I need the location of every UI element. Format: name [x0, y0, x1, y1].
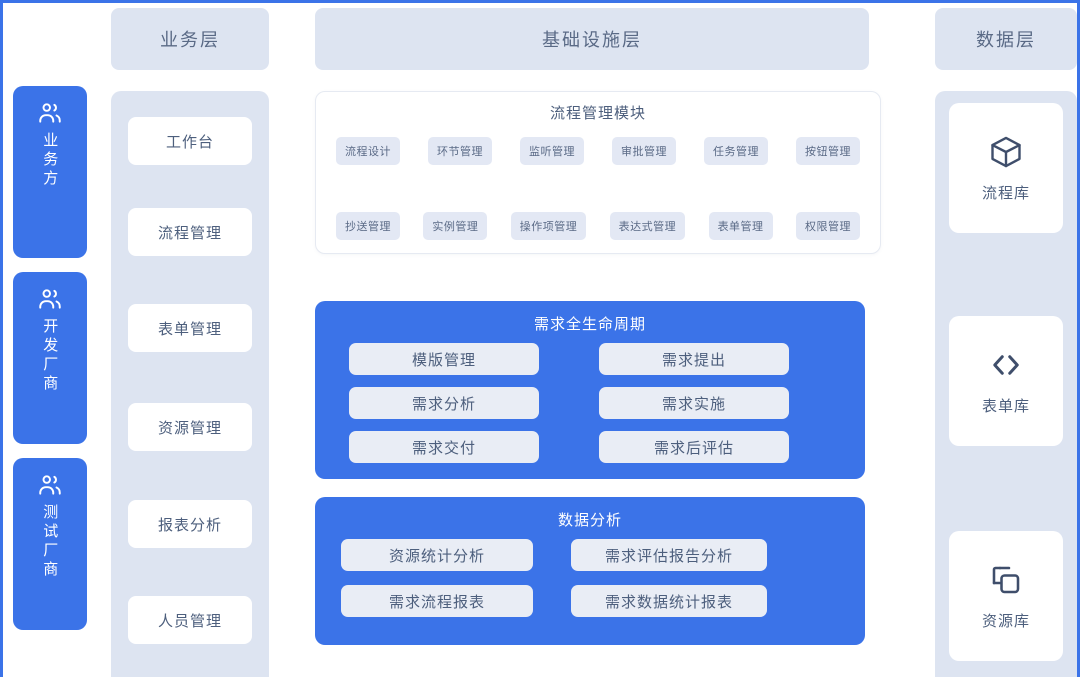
- business-item-report-analysis[interactable]: 报表分析: [128, 500, 252, 548]
- business-item-resource-mgmt[interactable]: 资源管理: [128, 403, 252, 451]
- analysis-item-grid: 资源统计分析 需求评估报告分析 需求流程报表 需求数据统计报表: [315, 539, 865, 617]
- tag-button-mgmt[interactable]: 按钮管理: [796, 137, 860, 165]
- tag-form-mgmt[interactable]: 表单管理: [709, 212, 773, 240]
- analysis-item-process-report[interactable]: 需求流程报表: [341, 585, 533, 617]
- analysis-item-evaluation-report[interactable]: 需求评估报告分析: [571, 539, 767, 571]
- data-card-resource-library[interactable]: 资源库: [949, 531, 1063, 661]
- tag-process-design[interactable]: 流程设计: [336, 137, 400, 165]
- tag-expression-mgmt[interactable]: 表达式管理: [610, 212, 686, 240]
- lifecycle-item-requirement-analysis[interactable]: 需求分析: [349, 387, 539, 419]
- data-card-label: 表单库: [982, 395, 1030, 416]
- data-card-label: 流程库: [982, 182, 1030, 203]
- cube-icon: [988, 134, 1024, 170]
- role-card-business-party[interactable]: 业务方: [13, 86, 87, 258]
- lifecycle-item-grid: 模版管理 需求提出 需求分析 需求实施 需求交付 需求后评估: [315, 343, 865, 463]
- tag-listener-mgmt[interactable]: 监听管理: [520, 137, 584, 165]
- column-header-infrastructure-layer: 基础设施层: [315, 8, 869, 70]
- lifecycle-item-template-mgmt[interactable]: 模版管理: [349, 343, 539, 375]
- lifecycle-item-requirement-implement[interactable]: 需求实施: [599, 387, 789, 419]
- users-icon: [35, 286, 65, 312]
- analysis-item-resource-stats[interactable]: 资源统计分析: [341, 539, 533, 571]
- copy-squares-icon: [988, 562, 1024, 598]
- data-analysis-panel: 数据分析 资源统计分析 需求评估报告分析 需求流程报表 需求数据统计报表: [315, 497, 865, 645]
- users-icon: [35, 100, 65, 126]
- data-card-form-library[interactable]: 表单库: [949, 316, 1063, 446]
- process-module-title: 流程管理模块: [316, 102, 880, 123]
- analysis-item-data-stats-report[interactable]: 需求数据统计报表: [571, 585, 767, 617]
- business-item-personnel-mgmt[interactable]: 人员管理: [128, 596, 252, 644]
- tag-instance-mgmt[interactable]: 实例管理: [423, 212, 487, 240]
- data-card-process-library[interactable]: 流程库: [949, 103, 1063, 233]
- architecture-diagram: 业务方 开发厂商 测试厂商 业务层 基础设施层 数据层 工作台 流: [0, 0, 1080, 677]
- tag-permission-mgmt[interactable]: 权限管理: [796, 212, 860, 240]
- users-icon: [35, 472, 65, 498]
- tag-approval-mgmt[interactable]: 审批管理: [612, 137, 676, 165]
- data-card-label: 资源库: [982, 610, 1030, 631]
- tag-task-mgmt[interactable]: 任务管理: [704, 137, 768, 165]
- requirement-lifecycle-panel: 需求全生命周期 模版管理 需求提出 需求分析 需求实施 需求交付 需求后评估: [315, 301, 865, 479]
- tag-node-mgmt[interactable]: 环节管理: [428, 137, 492, 165]
- role-sidebar: 业务方 开发厂商 测试厂商: [13, 86, 87, 644]
- role-label: 测试厂商: [42, 504, 59, 580]
- role-label: 开发厂商: [42, 318, 59, 394]
- business-item-workbench[interactable]: 工作台: [128, 117, 252, 165]
- lifecycle-item-requirement-raise[interactable]: 需求提出: [599, 343, 789, 375]
- role-card-dev-vendor[interactable]: 开发厂商: [13, 272, 87, 444]
- lifecycle-item-post-evaluation[interactable]: 需求后评估: [599, 431, 789, 463]
- data-layer-panel: 流程库 表单库 资源库: [935, 91, 1077, 677]
- business-item-form-mgmt[interactable]: 表单管理: [128, 304, 252, 352]
- lifecycle-item-requirement-delivery[interactable]: 需求交付: [349, 431, 539, 463]
- process-tag-row-1: 流程设计 环节管理 监听管理 审批管理 任务管理 按钮管理: [336, 137, 860, 165]
- role-label: 业务方: [42, 132, 59, 189]
- tag-cc-mgmt[interactable]: 抄送管理: [336, 212, 400, 240]
- code-brackets-icon: [988, 347, 1024, 383]
- business-item-process-mgmt[interactable]: 流程管理: [128, 208, 252, 256]
- analysis-title: 数据分析: [315, 497, 865, 530]
- tag-operation-mgmt[interactable]: 操作项管理: [511, 212, 587, 240]
- business-layer-panel: 工作台 流程管理 表单管理 资源管理 报表分析 人员管理: [111, 91, 269, 677]
- lifecycle-title: 需求全生命周期: [315, 301, 865, 334]
- role-card-test-vendor[interactable]: 测试厂商: [13, 458, 87, 630]
- process-tag-row-2: 抄送管理 实例管理 操作项管理 表达式管理 表单管理 权限管理: [336, 212, 860, 240]
- process-management-module-card: 流程管理模块 流程设计 环节管理 监听管理 审批管理 任务管理 按钮管理 抄送管…: [315, 91, 881, 254]
- column-header-business-layer: 业务层: [111, 8, 269, 70]
- column-header-data-layer: 数据层: [935, 8, 1077, 70]
